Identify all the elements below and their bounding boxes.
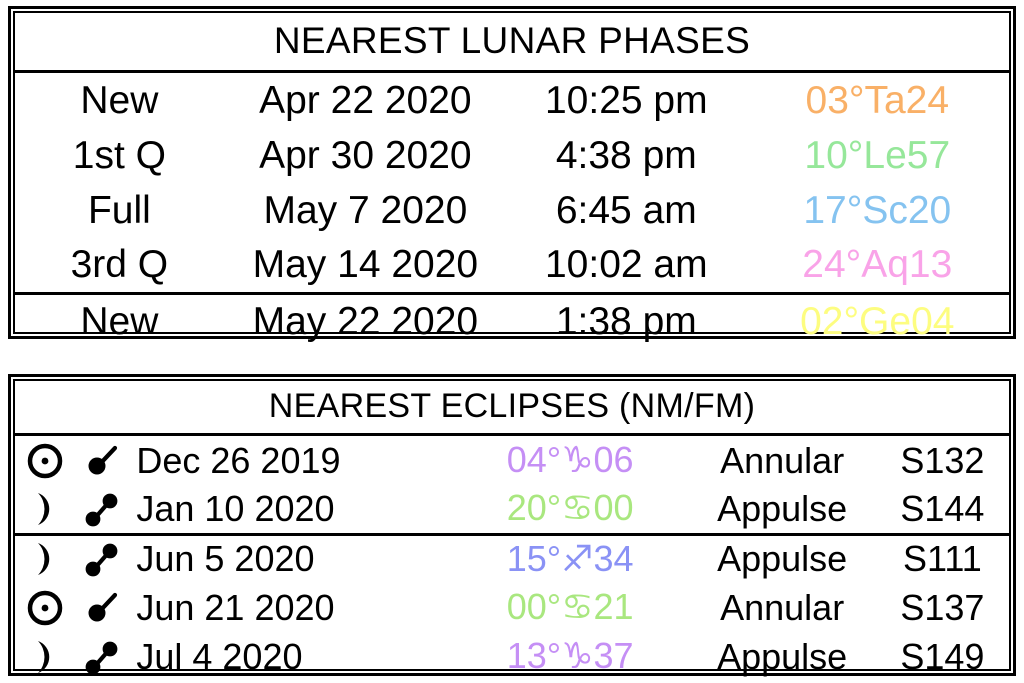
lunar-phases-panel: NEAREST LUNAR PHASES NewApr 22 202010:25…	[8, 6, 1016, 339]
lunar-phase-row: 1st QApr 30 20204:38 pm10°Le57	[15, 128, 1009, 183]
lunar-time-cell: 10:25 pm	[507, 73, 746, 128]
eclipse-row: Jun 21 202000°♋21AnnularS137	[15, 583, 1009, 632]
lunar-phase-row: FullMay 7 20206:45 am17°Sc20	[15, 183, 1009, 238]
zodiac-sign-glyph: ♋	[561, 587, 593, 628]
eclipse-position-cell: 15°♐34	[452, 534, 689, 583]
lunar-phase-row: NewMay 22 20201:38 pm02°Ge04	[15, 293, 1009, 348]
eclipse-row: Jun 5 202015°♐34AppulseS111	[15, 534, 1009, 583]
eclipse-degree-after: 00	[594, 487, 634, 528]
lunar-position-cell: 10°Le57	[746, 128, 1009, 183]
eclipse-saros-cell: S149	[876, 632, 1009, 681]
zodiac-sign-glyph: ♐	[561, 539, 593, 580]
eclipse-date-cell: Jan 10 2020	[128, 485, 451, 534]
lunar-phases-title: NEAREST LUNAR PHASES	[15, 13, 1009, 73]
moon-icon	[15, 632, 74, 681]
eclipses-title: NEAREST ECLIPSES (NM/FM)	[15, 381, 1009, 436]
eclipse-degree-after: 06	[594, 439, 634, 480]
eclipse-position-cell: 04°♑06	[452, 436, 689, 485]
eclipse-degree-after: 34	[594, 538, 634, 579]
moon-icon	[15, 485, 74, 534]
lunar-time-cell: 1:38 pm	[507, 293, 746, 348]
double-node-icon	[74, 632, 128, 681]
lunar-phase-row: NewApr 22 202010:25 pm03°Ta24	[15, 73, 1009, 128]
double-node-icon	[74, 534, 128, 583]
lunar-phase-cell: 3rd Q	[15, 238, 224, 293]
lunar-date-cell: Apr 22 2020	[224, 73, 507, 128]
eclipses-panel: NEAREST ECLIPSES (NM/FM) Dec 26 201904°♑…	[8, 374, 1016, 676]
eclipse-degree-before: 15°	[507, 538, 561, 579]
eclipse-type-cell: Annular	[688, 583, 875, 632]
eclipse-degree-before: 20°	[507, 487, 561, 528]
sun-icon	[15, 583, 74, 632]
zodiac-sign-glyph: ♑	[561, 440, 593, 481]
lunar-position-cell: 03°Ta24	[746, 73, 1009, 128]
eclipse-position-cell: 20°♋00	[452, 485, 689, 534]
lunar-phases-table: NewApr 22 202010:25 pm03°Ta241st QApr 30…	[15, 73, 1009, 348]
eclipse-degree-before: 04°	[507, 439, 561, 480]
lunar-time-cell: 10:02 am	[507, 238, 746, 293]
eclipse-type-cell: Appulse	[688, 485, 875, 534]
eclipse-date-cell: Jul 4 2020	[128, 632, 451, 681]
eclipse-date-cell: Dec 26 2019	[128, 436, 451, 485]
eclipse-position-cell: 00°♋21	[452, 583, 689, 632]
eclipse-saros-cell: S137	[876, 583, 1009, 632]
lunar-phase-cell: 1st Q	[15, 128, 224, 183]
eclipse-position-cell: 13°♑37	[452, 632, 689, 681]
lunar-phase-cell: Full	[15, 183, 224, 238]
lunar-date-cell: May 22 2020	[224, 293, 507, 348]
sun-icon	[15, 436, 74, 485]
eclipse-row: Jan 10 202020°♋00AppulseS144	[15, 485, 1009, 534]
lunar-phase-row: 3rd QMay 14 202010:02 am24°Aq13	[15, 238, 1009, 293]
eclipse-degree-after: 37	[594, 635, 634, 676]
eclipse-degree-before: 13°	[507, 635, 561, 676]
double-node-icon	[74, 485, 128, 534]
moon-icon	[15, 534, 74, 583]
lunar-time-cell: 4:38 pm	[507, 128, 746, 183]
lunar-position-cell: 02°Ge04	[746, 293, 1009, 348]
lunar-date-cell: May 7 2020	[224, 183, 507, 238]
lunar-date-cell: May 14 2020	[224, 238, 507, 293]
lunar-phase-cell: New	[15, 73, 224, 128]
eclipse-degree-before: 00°	[507, 586, 561, 627]
eclipse-degree-after: 21	[594, 586, 634, 627]
eclipse-saros-cell: S144	[876, 485, 1009, 534]
eclipse-type-cell: Appulse	[688, 534, 875, 583]
perigee-node-icon	[74, 436, 128, 485]
eclipse-row: Jul 4 202013°♑37AppulseS149	[15, 632, 1009, 681]
lunar-phase-cell: New	[15, 293, 224, 348]
lunar-date-cell: Apr 30 2020	[224, 128, 507, 183]
eclipse-saros-cell: S132	[876, 436, 1009, 485]
eclipse-row: Dec 26 201904°♑06AnnularS132	[15, 436, 1009, 485]
zodiac-sign-glyph: ♑	[561, 636, 593, 677]
eclipse-date-cell: Jun 21 2020	[128, 583, 451, 632]
perigee-node-icon	[74, 583, 128, 632]
eclipses-table: Dec 26 201904°♑06AnnularS132Jan 10 20202…	[15, 436, 1009, 681]
eclipse-type-cell: Appulse	[688, 632, 875, 681]
eclipse-date-cell: Jun 5 2020	[128, 534, 451, 583]
lunar-phases-and-eclipses-page: NEAREST LUNAR PHASES NewApr 22 202010:25…	[0, 0, 1024, 683]
lunar-position-cell: 17°Sc20	[746, 183, 1009, 238]
lunar-time-cell: 6:45 am	[507, 183, 746, 238]
eclipse-saros-cell: S111	[876, 534, 1009, 583]
lunar-position-cell: 24°Aq13	[746, 238, 1009, 293]
zodiac-sign-glyph: ♋	[561, 488, 593, 529]
eclipse-type-cell: Annular	[688, 436, 875, 485]
